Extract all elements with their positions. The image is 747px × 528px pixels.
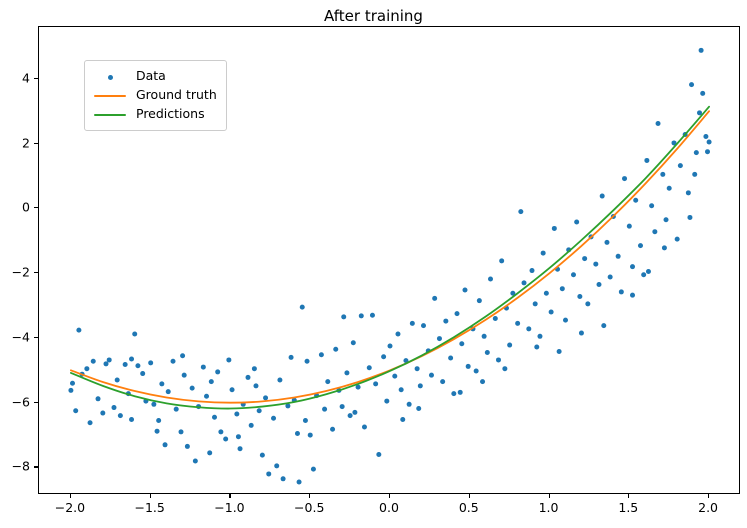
data-point bbox=[552, 226, 557, 231]
data-point bbox=[129, 417, 134, 422]
x-tick-label: −1.0 bbox=[214, 500, 244, 515]
data-point bbox=[707, 139, 712, 144]
data-point bbox=[253, 383, 258, 388]
y-tick-label: −8 bbox=[0, 459, 30, 474]
y-tick-label: −2 bbox=[0, 265, 30, 280]
data-point bbox=[163, 442, 168, 447]
data-point bbox=[166, 389, 171, 394]
data-point bbox=[557, 349, 562, 354]
y-tick-label: 0 bbox=[0, 200, 30, 215]
data-point bbox=[367, 365, 372, 370]
data-point bbox=[537, 334, 542, 339]
data-point bbox=[289, 355, 294, 360]
y-tick-mark bbox=[34, 402, 38, 403]
data-point bbox=[579, 331, 584, 336]
data-point bbox=[274, 463, 279, 468]
data-point bbox=[689, 82, 694, 87]
data-point bbox=[421, 323, 426, 328]
data-point bbox=[218, 429, 223, 434]
data-point bbox=[325, 379, 330, 384]
data-point bbox=[619, 289, 624, 294]
data-point bbox=[223, 436, 228, 441]
data-point bbox=[699, 48, 704, 53]
data-point bbox=[215, 369, 220, 374]
data-point bbox=[384, 399, 389, 404]
data-point bbox=[443, 319, 448, 324]
data-point bbox=[660, 172, 665, 177]
data-point bbox=[359, 313, 364, 318]
data-point bbox=[630, 264, 635, 269]
data-point bbox=[257, 408, 262, 413]
data-point bbox=[271, 416, 276, 421]
data-point bbox=[705, 149, 710, 154]
data-point bbox=[560, 286, 565, 291]
data-point bbox=[107, 357, 112, 362]
data-point bbox=[96, 396, 101, 401]
data-point bbox=[526, 326, 531, 331]
data-point bbox=[236, 434, 241, 439]
data-point bbox=[351, 340, 356, 345]
data-point bbox=[518, 209, 523, 214]
data-point bbox=[656, 121, 661, 126]
data-point bbox=[344, 370, 349, 375]
data-point bbox=[204, 394, 209, 399]
data-point bbox=[249, 423, 254, 428]
data-point bbox=[459, 341, 464, 346]
data-point bbox=[686, 190, 691, 195]
data-point bbox=[515, 321, 520, 326]
data-point bbox=[451, 391, 456, 396]
data-point bbox=[466, 364, 471, 369]
data-point bbox=[373, 381, 378, 386]
data-point bbox=[118, 413, 123, 418]
legend: Data Ground truth Predictions bbox=[84, 60, 227, 131]
data-point bbox=[571, 272, 576, 277]
y-tick-label: 2 bbox=[0, 135, 30, 150]
data-point bbox=[140, 371, 145, 376]
data-point bbox=[104, 361, 109, 366]
data-point bbox=[522, 280, 527, 285]
data-point bbox=[68, 388, 73, 393]
y-tick-label: −6 bbox=[0, 394, 30, 409]
predictions-line-icon bbox=[93, 108, 127, 122]
x-tick-mark bbox=[150, 494, 151, 498]
data-point bbox=[281, 476, 286, 481]
legend-label-data: Data bbox=[136, 70, 166, 83]
x-tick-mark bbox=[469, 494, 470, 498]
x-tick-label: 2.0 bbox=[698, 500, 718, 515]
data-point bbox=[135, 363, 140, 368]
data-point bbox=[370, 313, 375, 318]
data-point bbox=[641, 272, 646, 277]
data-point bbox=[388, 344, 393, 349]
data-point bbox=[692, 172, 697, 177]
data-point bbox=[477, 298, 482, 303]
data-point bbox=[448, 356, 453, 361]
data-point bbox=[638, 243, 643, 248]
data-point bbox=[480, 379, 485, 384]
x-tick-label: 0.0 bbox=[379, 500, 399, 515]
data-point bbox=[585, 301, 590, 306]
data-point bbox=[429, 373, 434, 378]
x-tick-label: 1.0 bbox=[539, 500, 559, 515]
x-tick-mark bbox=[549, 494, 550, 498]
data-point bbox=[644, 158, 649, 163]
data-point bbox=[694, 150, 699, 155]
y-tick-label: 4 bbox=[0, 70, 30, 85]
data-point bbox=[593, 262, 598, 267]
data-point bbox=[678, 163, 683, 168]
data-point bbox=[319, 352, 324, 357]
y-tick-mark bbox=[34, 78, 38, 79]
data-point bbox=[155, 429, 160, 434]
data-point bbox=[675, 237, 680, 242]
data-point bbox=[70, 381, 75, 386]
data-point bbox=[582, 256, 587, 261]
x-tick-label: 0.5 bbox=[459, 500, 479, 515]
data-point bbox=[182, 373, 187, 378]
legend-label-predictions: Predictions bbox=[136, 108, 205, 121]
data-point bbox=[263, 395, 268, 400]
data-point bbox=[156, 418, 161, 423]
data-point bbox=[308, 433, 313, 438]
data-point bbox=[646, 269, 651, 274]
data-point bbox=[201, 365, 206, 370]
y-tick-mark bbox=[34, 466, 38, 467]
data-point bbox=[252, 366, 257, 371]
data-point bbox=[73, 408, 78, 413]
data-point bbox=[297, 480, 302, 485]
plot-axes: Data Ground truth Predictions bbox=[38, 26, 740, 494]
data-point bbox=[437, 336, 442, 341]
data-point bbox=[100, 411, 105, 416]
data-point bbox=[333, 347, 338, 352]
ground-truth-line bbox=[71, 111, 709, 402]
x-tick-label: −0.5 bbox=[294, 500, 324, 515]
y-tick-label: −4 bbox=[0, 329, 30, 344]
legend-item-ground-truth: Ground truth bbox=[93, 86, 217, 105]
data-point bbox=[303, 418, 308, 423]
data-point bbox=[462, 287, 467, 292]
data-point bbox=[300, 305, 305, 310]
data-point bbox=[703, 134, 708, 139]
legend-item-data: Data bbox=[93, 67, 217, 86]
predictions-line bbox=[71, 107, 709, 409]
data-point bbox=[601, 323, 606, 328]
data-point bbox=[295, 431, 300, 436]
data-point bbox=[544, 291, 549, 296]
data-point bbox=[266, 471, 271, 476]
data-point bbox=[633, 198, 638, 203]
data-point bbox=[376, 452, 381, 457]
x-tick-mark bbox=[389, 494, 390, 498]
data-marker-icon bbox=[93, 70, 127, 84]
x-tick-mark bbox=[70, 494, 71, 498]
x-tick-mark bbox=[708, 494, 709, 498]
data-point bbox=[171, 359, 176, 364]
data-point bbox=[322, 407, 327, 412]
data-point bbox=[76, 328, 81, 333]
data-point bbox=[600, 194, 605, 199]
data-point bbox=[415, 366, 420, 371]
data-point bbox=[652, 229, 657, 234]
data-point bbox=[190, 386, 195, 391]
data-point bbox=[395, 332, 400, 337]
data-point bbox=[574, 219, 579, 224]
y-tick-mark bbox=[34, 143, 38, 144]
data-point bbox=[507, 343, 512, 348]
data-point bbox=[129, 356, 134, 361]
data-point bbox=[418, 383, 423, 388]
data-point bbox=[622, 176, 627, 181]
y-tick-mark bbox=[34, 272, 38, 273]
data-point bbox=[455, 311, 460, 316]
data-point bbox=[563, 318, 568, 323]
data-point bbox=[123, 362, 128, 367]
data-point bbox=[416, 406, 421, 411]
x-tick-mark bbox=[229, 494, 230, 498]
data-point bbox=[362, 424, 367, 429]
data-point bbox=[549, 310, 554, 315]
data-point bbox=[604, 240, 609, 245]
data-point bbox=[226, 357, 231, 362]
data-point bbox=[432, 296, 437, 301]
data-point bbox=[496, 357, 501, 362]
data-point bbox=[687, 215, 692, 220]
data-point bbox=[151, 402, 156, 407]
data-point bbox=[410, 321, 415, 326]
data-point bbox=[260, 453, 265, 458]
data-point bbox=[352, 410, 357, 415]
data-point bbox=[148, 360, 153, 365]
data-point bbox=[667, 186, 672, 191]
data-point bbox=[238, 446, 243, 451]
data-point bbox=[246, 375, 251, 380]
data-point bbox=[533, 301, 538, 306]
legend-label-ground-truth: Ground truth bbox=[136, 89, 217, 102]
data-point bbox=[159, 381, 164, 386]
data-point bbox=[616, 254, 621, 259]
data-point bbox=[541, 251, 546, 256]
data-point bbox=[608, 275, 613, 280]
y-tick-mark bbox=[34, 207, 38, 208]
data-point bbox=[400, 417, 405, 422]
data-point bbox=[180, 353, 185, 358]
data-point bbox=[530, 268, 535, 273]
data-point bbox=[209, 379, 214, 384]
data-point bbox=[630, 293, 635, 298]
data-point bbox=[230, 387, 235, 392]
data-point bbox=[485, 350, 490, 355]
data-point bbox=[488, 276, 493, 281]
data-point bbox=[330, 427, 335, 432]
page-title: After training bbox=[0, 7, 747, 25]
data-point bbox=[440, 379, 445, 384]
data-point bbox=[115, 378, 120, 383]
matplotlib-figure: After training Data Ground truth Predict… bbox=[0, 0, 747, 528]
data-point bbox=[311, 467, 316, 472]
data-point bbox=[664, 217, 669, 222]
data-point bbox=[179, 429, 184, 434]
legend-item-predictions: Predictions bbox=[93, 105, 217, 124]
ground-truth-line-icon bbox=[93, 89, 127, 103]
data-point bbox=[207, 450, 212, 455]
data-point bbox=[392, 374, 397, 379]
data-point bbox=[493, 316, 498, 321]
x-tick-mark bbox=[309, 494, 310, 498]
data-point bbox=[597, 282, 602, 287]
data-point bbox=[399, 387, 404, 392]
data-point bbox=[474, 368, 479, 373]
data-point bbox=[348, 413, 353, 418]
data-point bbox=[185, 444, 190, 449]
x-tick-mark bbox=[628, 494, 629, 498]
x-tick-label: −1.5 bbox=[134, 500, 164, 515]
data-point bbox=[407, 402, 412, 407]
data-point bbox=[88, 420, 93, 425]
data-point bbox=[111, 405, 116, 410]
data-point bbox=[340, 404, 345, 409]
data-point bbox=[482, 334, 487, 339]
data-point bbox=[91, 359, 96, 364]
y-tick-mark bbox=[34, 337, 38, 338]
data-point bbox=[458, 390, 463, 395]
data-point bbox=[577, 294, 582, 299]
data-point bbox=[193, 458, 198, 463]
data-point bbox=[534, 344, 539, 349]
data-point bbox=[341, 314, 346, 319]
data-point bbox=[627, 224, 632, 229]
data-point bbox=[234, 412, 239, 417]
data-point bbox=[212, 415, 217, 420]
data-point bbox=[174, 407, 179, 412]
data-point bbox=[649, 203, 654, 208]
data-point bbox=[277, 378, 282, 383]
data-point bbox=[132, 332, 137, 337]
data-point bbox=[502, 366, 507, 371]
data-point bbox=[662, 245, 667, 250]
data-point bbox=[499, 258, 504, 263]
data-point bbox=[700, 91, 705, 96]
data-point bbox=[381, 354, 386, 359]
data-point bbox=[84, 366, 89, 371]
x-tick-label: 1.5 bbox=[618, 500, 638, 515]
x-tick-label: −2.0 bbox=[55, 500, 85, 515]
data-point bbox=[305, 359, 310, 364]
